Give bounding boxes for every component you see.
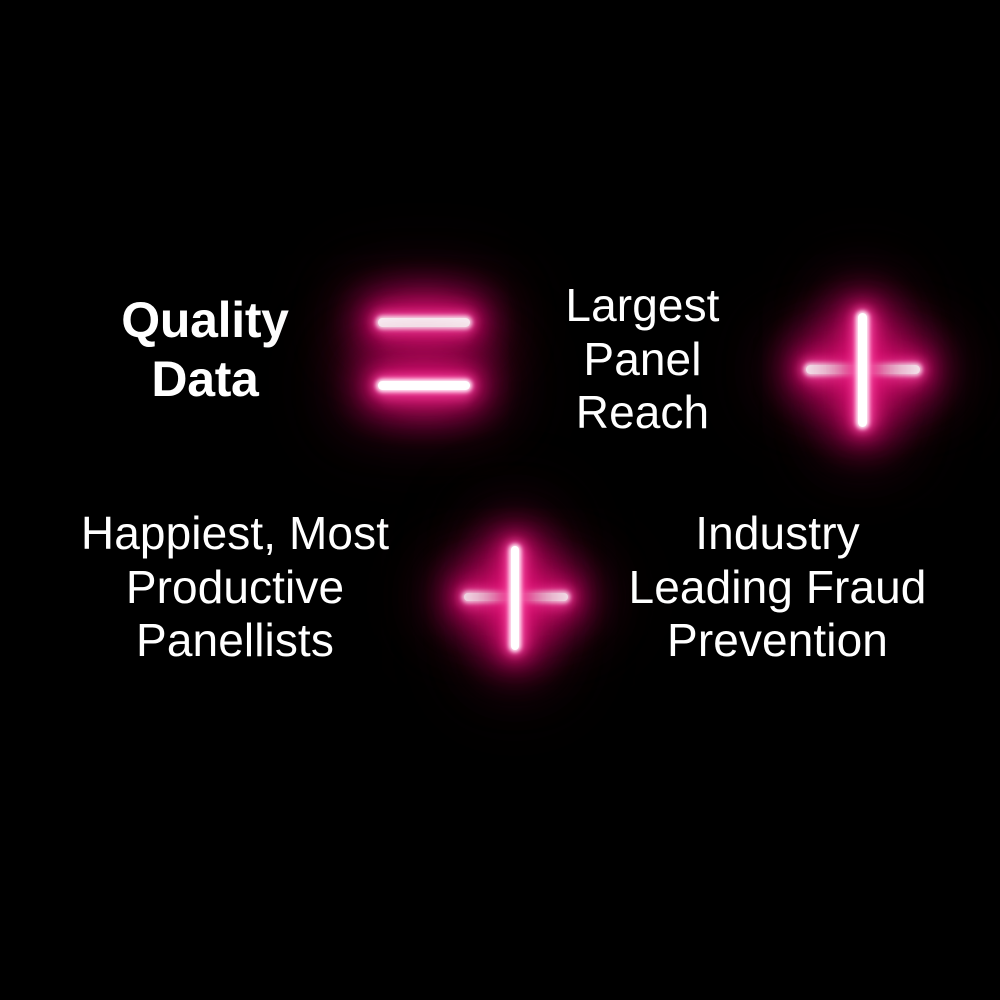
industry-fraud-prevention-text-block: Industry Leading Fraud Prevention (610, 500, 945, 675)
neon-graphic-canvas: Quality Data Largest Panel Reach Happies… (0, 0, 1000, 1000)
equals-icon-reflection-bottom (382, 393, 470, 404)
equals-icon-graphic (348, 282, 500, 422)
equals-icon-bar-bottom (378, 381, 470, 390)
happiest-panellists-text-block: Happiest, Most Productive Panellists (60, 500, 410, 675)
happiest-panellists-label: Happiest, Most Productive Panellists (81, 507, 389, 668)
quality-data-text-block: Quality Data (60, 280, 350, 420)
plus-icon-top (778, 285, 948, 455)
equals-icon-bar-top (378, 318, 470, 327)
quality-data-label: Quality Data (121, 291, 288, 409)
equals-icon (348, 282, 500, 422)
equals-icon-reflection-top (382, 330, 470, 341)
plus-icon-bottom (438, 520, 593, 675)
largest-panel-reach-label: Largest Panel Reach (565, 279, 719, 440)
plus-icon-bottom-graphic (438, 520, 593, 675)
plus-icon-top-bar-vertical (858, 313, 867, 427)
largest-panel-reach-text-block: Largest Panel Reach (540, 272, 745, 447)
plus-icon-top-graphic (778, 285, 948, 455)
plus-icon-bottom-bar-vertical (511, 546, 519, 650)
industry-fraud-prevention-label: Industry Leading Fraud Prevention (629, 507, 927, 668)
